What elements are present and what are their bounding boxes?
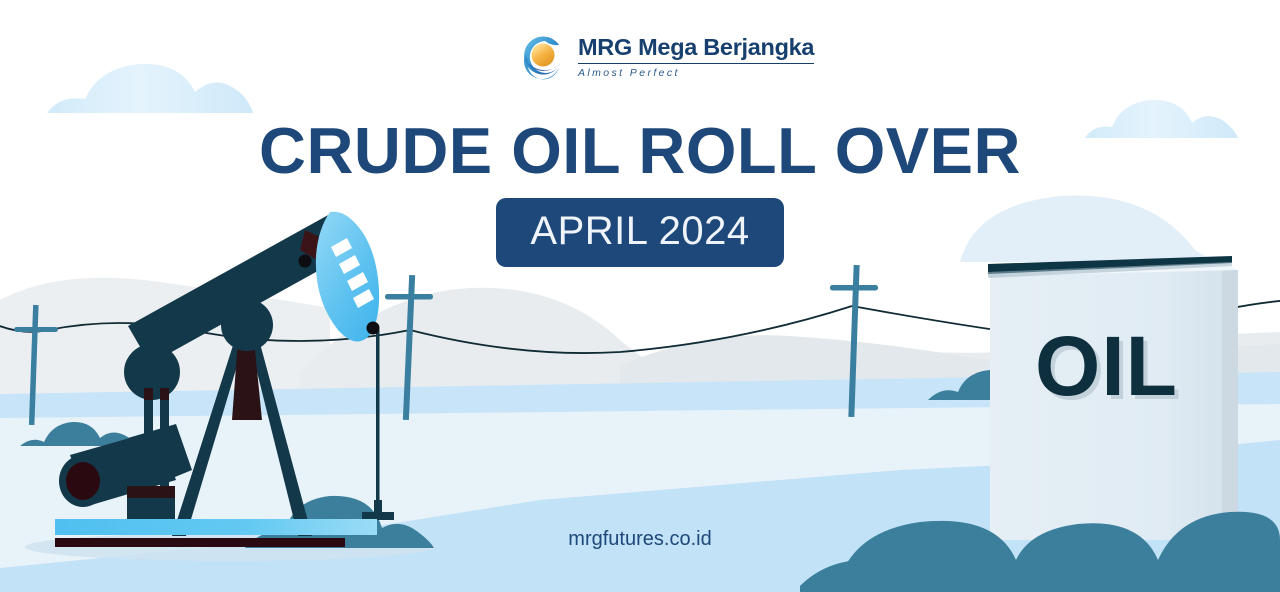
beam-pivot [221,299,273,351]
crude-oil-rollover-banner: MRG Mega Berjangka Almost Perfect CRUDE … [0,0,1280,592]
page-title: CRUDE OIL ROLL OVER [0,113,1280,188]
date-badge: APRIL 2024 [496,198,783,267]
oil-tank-label: OIL [1035,318,1178,415]
date-badge-wrapper: APRIL 2024 [0,198,1280,267]
website-url[interactable]: mrgfutures.co.id [0,528,1280,551]
head-pin-lower [367,322,380,335]
mrg-swirl-logo-icon [519,33,567,81]
logo-company-name: MRG Mega Berjangka [578,36,814,64]
brand-logo[interactable]: MRG Mega Berjangka Almost Perfect [519,33,814,81]
logo-text-block: MRG Mega Berjangka Almost Perfect [578,36,814,78]
logo-tagline: Almost Perfect [578,68,814,79]
background-illustration [0,0,1280,592]
